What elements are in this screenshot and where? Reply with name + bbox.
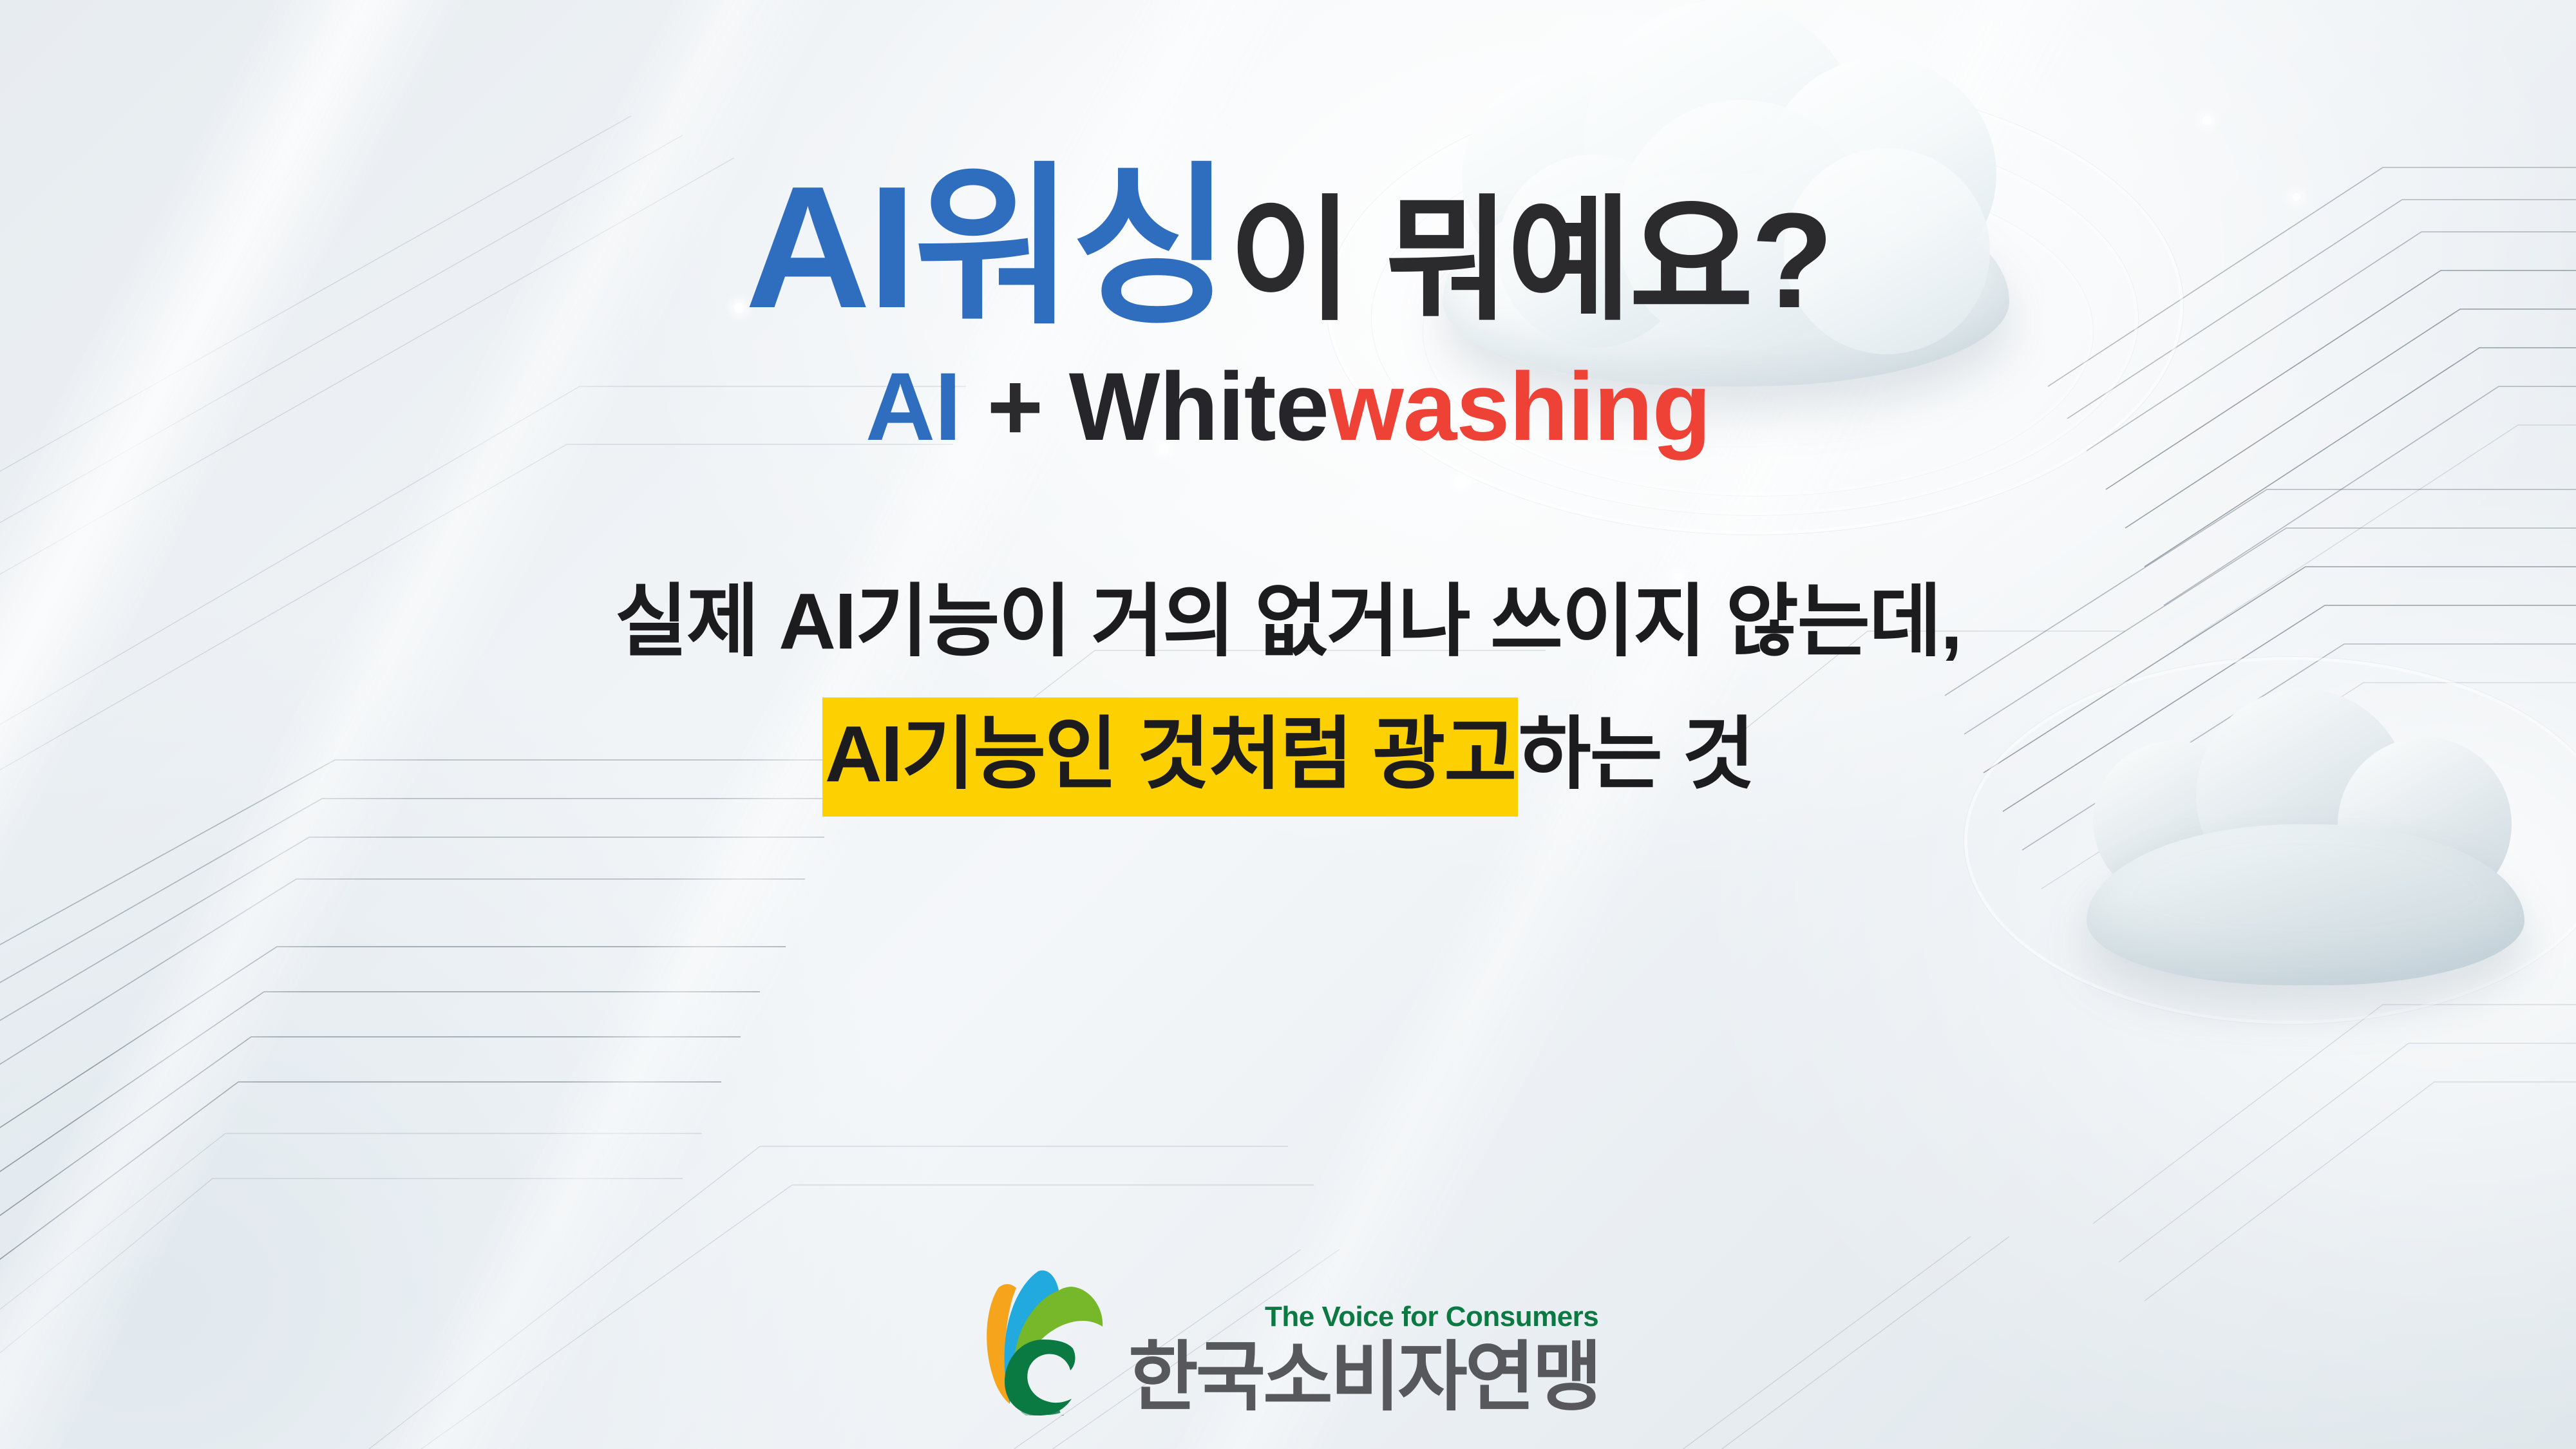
organization-logo: The Voice for Consumers 한국소비자연맹 xyxy=(976,1267,1600,1416)
logo-organization-name: 한국소비자연맹 xyxy=(1128,1340,1600,1416)
yellow-highlight-text: AI기능인 것처럼 광고 xyxy=(822,697,1519,817)
headline-term-aiwashing: AI워싱 xyxy=(745,151,1229,345)
subtitle-washing: washing xyxy=(1329,352,1710,460)
consumers-union-logo-icon xyxy=(976,1267,1112,1416)
poster-content: AI워싱이 뭐예요? AI + Whitewashing 실제 AI기능이 거의… xyxy=(0,0,2576,1449)
poster-canvas: AI워싱이 뭐예요? AI + Whitewashing 실제 AI기능이 거의… xyxy=(0,0,2576,1449)
subtitle-white: White xyxy=(1069,352,1329,460)
logo-tagline: The Voice for Consumers xyxy=(1265,1301,1598,1333)
definition-text: 실제 AI기능이 거의 없거나 쓰이지 않는데, AI기능인 것처럼 광고하는 … xyxy=(615,564,1962,812)
definition-line-2: AI기능인 것처럼 광고하는 것 xyxy=(615,697,1962,813)
definition-line-2-tail: 하는 것 xyxy=(1518,710,1754,799)
subtitle-ai: AI xyxy=(866,352,961,460)
page-title: AI워싱이 뭐예요? xyxy=(745,161,1831,335)
definition-line-1: 실제 AI기능이 거의 없거나 쓰이지 않는데, xyxy=(615,564,1962,680)
logo-text-block: The Voice for Consumers 한국소비자연맹 xyxy=(1128,1301,1600,1416)
headline-question-tail: 이 뭐예요? xyxy=(1229,185,1831,336)
subtitle-plus-sign: + xyxy=(961,352,1069,460)
subtitle-formula: AI + Whitewashing xyxy=(866,358,1710,455)
